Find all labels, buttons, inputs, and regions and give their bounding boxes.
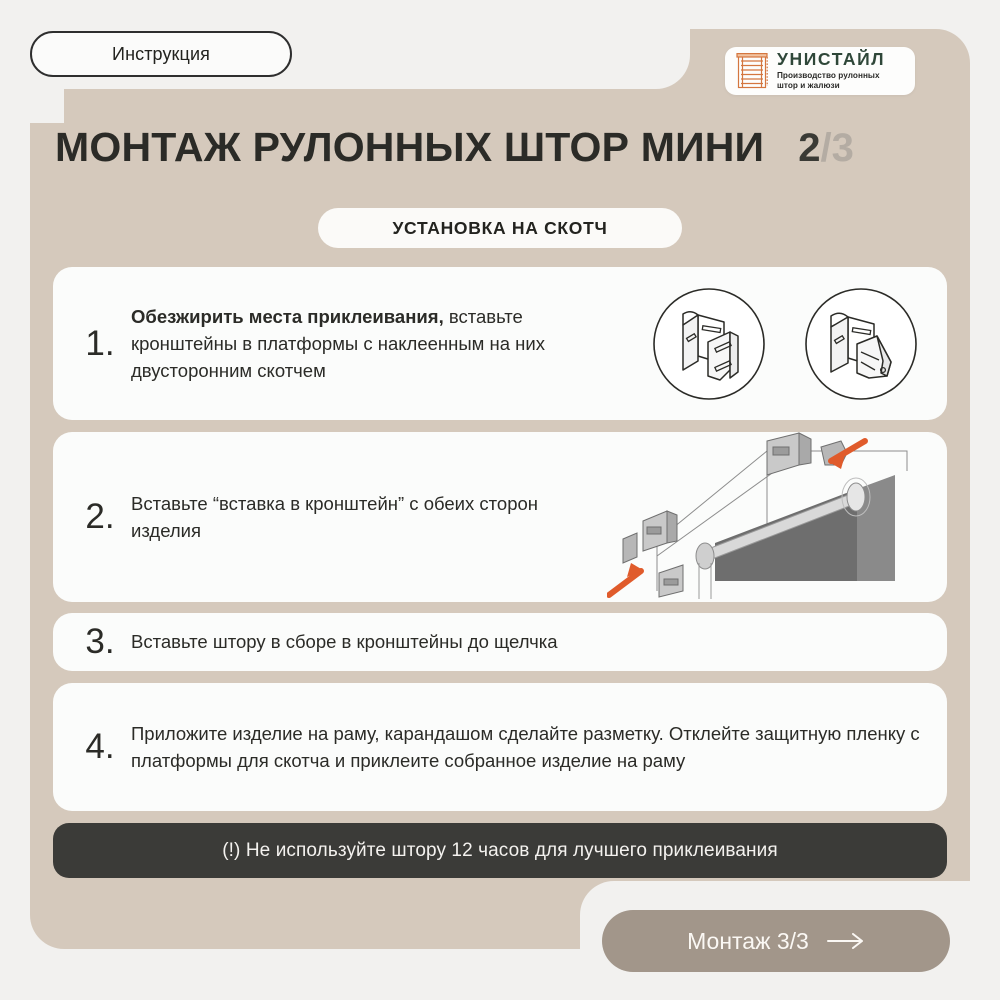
brand-logo: УНИСТАЙЛ Производство рулонных штор и жа… (725, 47, 915, 95)
bracket-platform-circles (645, 280, 947, 408)
step-card-3: 3. Вставьте штору в сборе в кронштейны д… (53, 613, 947, 671)
roller-blind-icon (734, 52, 770, 90)
step-text-1-bold: Обезжирить места приклеивания, (131, 306, 444, 327)
logo-text: УНИСТАЙЛ Производство рулонных штор и жа… (777, 51, 885, 91)
step-card-1: 1. Обезжирить места приклеивания, вставь… (53, 267, 947, 420)
logo-subtitle-line1: Производство рулонных (777, 71, 880, 80)
arrow-right-icon (827, 933, 865, 949)
next-page-button-label: Монтаж 3/3 (687, 928, 809, 955)
step-card-2: 2. Вставьте “вставка в кронштейн” с обеи… (53, 432, 947, 602)
step-text-2: Вставьте “вставка в кронштейн” с обеих с… (131, 490, 593, 544)
roller-blind-assembly-diagram (607, 431, 947, 599)
step-text-4: Приложите изделие на раму, карандашом сд… (131, 720, 933, 774)
step-body-3: Вставьте штору в сборе в кронштейны до щ… (131, 628, 947, 655)
section-subtitle-label: УСТАНОВКА НА СКОТЧ (392, 218, 607, 239)
page-title: МОНТАЖ РУЛОННЫХ ШТОР МИНИ 2/3 (55, 124, 955, 171)
page-counter: 2/3 (798, 126, 854, 171)
step-number-2: 2. (53, 497, 131, 537)
section-subtitle: УСТАНОВКА НА СКОТЧ (318, 208, 682, 248)
logo-name: УНИСТАЙЛ (777, 51, 885, 69)
step-number-4: 4. (53, 727, 131, 767)
warning-banner: (!) Не используйте штору 12 часов для лу… (53, 823, 947, 878)
logo-subtitle-line2: штор и жалюзи (777, 81, 840, 90)
step-illustration-1 (645, 280, 947, 408)
bracket-circle-a (645, 280, 773, 408)
step-illustration-2 (607, 431, 947, 604)
logo-subtitle: Производство рулонных штор и жалюзи (777, 71, 885, 92)
instruction-badge-label: Инструкция (112, 44, 210, 65)
step-body-2: Вставьте “вставка в кронштейн” с обеих с… (131, 490, 607, 544)
step-card-4: 4. Приложите изделие на раму, карандашом… (53, 683, 947, 811)
instruction-poster: Инструкция УНИСТ (0, 0, 1000, 1000)
page-counter-current: 2 (798, 126, 820, 170)
instruction-badge: Инструкция (30, 31, 292, 77)
step-number-3: 3. (53, 622, 131, 662)
page-counter-total: /3 (820, 126, 853, 170)
step-body-4: Приложите изделие на раму, карандашом сд… (131, 720, 947, 774)
next-page-button[interactable]: Монтаж 3/3 (602, 910, 950, 972)
bracket-circle-b (797, 280, 925, 408)
page-title-text: МОНТАЖ РУЛОННЫХ ШТОР МИНИ (55, 124, 764, 171)
step-body-1: Обезжирить места приклеивания, вставьте … (131, 303, 645, 385)
warning-text: (!) Не используйте штору 12 часов для лу… (222, 840, 778, 862)
step-number-1: 1. (53, 324, 131, 364)
step-text-3: Вставьте штору в сборе в кронштейны до щ… (131, 628, 933, 655)
step-text-1: Обезжирить места приклеивания, вставьте … (131, 303, 631, 385)
arrow-orange-bottom (609, 563, 643, 595)
